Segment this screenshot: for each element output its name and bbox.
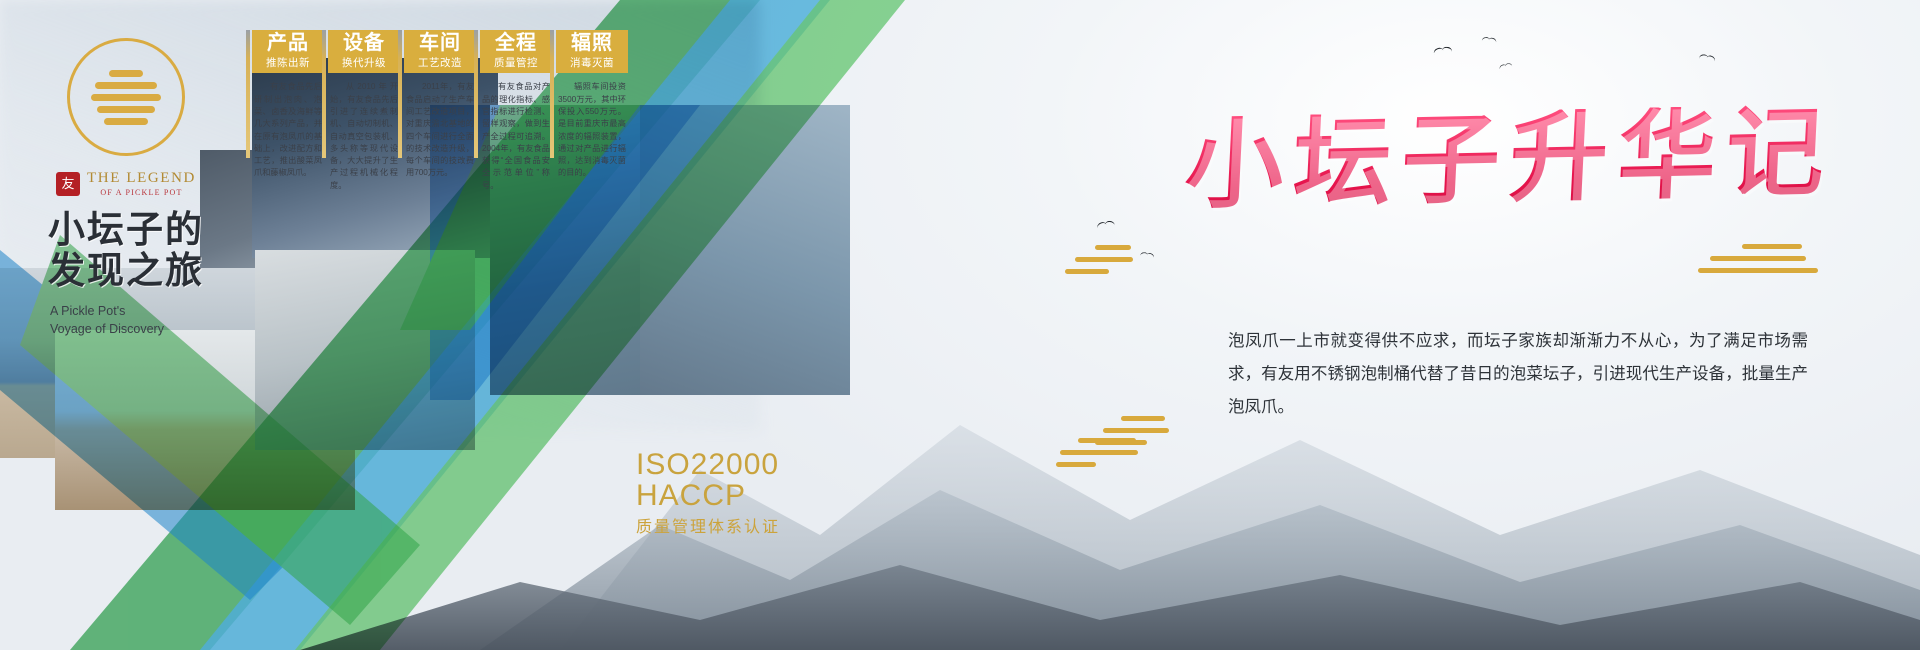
column-rule — [474, 30, 478, 158]
info-column-equipment: 设备 换代升级 从2010年开始，有友食品先后引进了连续煮制机、自动切制机、自动… — [328, 30, 400, 230]
bird-icon — [1698, 54, 1715, 66]
info-column-workshop: 车间 工艺改造 2011年，有友食品启动了生产车间工艺改造项目，对重庆渝北基地的… — [404, 30, 476, 230]
brand-english: THE LEGEND OF A PICKLE POT — [87, 170, 196, 197]
cloud-motif-icon — [1065, 245, 1133, 281]
brand-en-line1: THE LEGEND — [87, 170, 196, 187]
column-body: 辐照车间投资3500万元，其中环保投入550万元。是目前重庆市最高浓度的辐照装置… — [556, 81, 628, 179]
column-subheading: 工艺改造 — [404, 55, 476, 73]
main-headline: 小坛子升华记 — [1181, 103, 1868, 247]
brand-cn-line1: 小坛子的 — [26, 209, 226, 250]
info-column-irradiation: 辐照 消毒灭菌 辐照车间投资3500万元，其中环保投入550万元。是目前重庆市最… — [556, 30, 628, 230]
column-rule — [398, 30, 402, 158]
column-rule — [322, 30, 326, 158]
column-body: 从2010年开始，有友食品先后引进了连续煮制机、自动切制机、自动真空包装机、多头… — [328, 81, 400, 192]
pickle-pot-seal-icon — [67, 38, 185, 156]
brand-en-sub-line1: A Pickle Pot's — [50, 302, 226, 320]
bird-icon — [1140, 252, 1155, 261]
column-subheading: 质量管控 — [480, 55, 552, 73]
photo-worker — [255, 250, 475, 450]
column-heading: 全程 — [480, 30, 552, 55]
column-heading: 辐照 — [556, 30, 628, 55]
body-paragraph: 泡凤爪一上市就变得供不应求，而坛子家族却渐渐力不从心，为了满足市场需求，有友用不… — [1228, 325, 1808, 424]
brand-chinese-title: 小坛子的 发现之旅 — [26, 209, 226, 292]
column-rule — [246, 30, 250, 158]
column-subheading: 换代升级 — [328, 55, 400, 73]
column-body: 2011年，有友食品启动了生产车间工艺改造项目，对重庆渝北基地的四个车间进行全面… — [404, 81, 476, 179]
photo-factory-aerial-right — [640, 105, 850, 395]
column-rule — [550, 30, 554, 158]
column-heading: 产品 — [252, 30, 324, 55]
info-column-product: 产品 推陈出新 有友食品先后研制出泡肉、泡菜、卤香及海鲜等几大系列产品，并在原有… — [252, 30, 324, 230]
promotional-banner: 友 THE LEGEND OF A PICKLE POT 小坛子的 发现之旅 A… — [0, 0, 1920, 650]
bird-icon — [1481, 37, 1496, 47]
certification-block: ISO22000 HACCP 质量管理体系认证 — [636, 450, 780, 537]
column-body: 有友食品先后研制出泡肉、泡菜、卤香及海鲜等几大系列产品，并在原有泡凤爪的基础上，… — [252, 81, 324, 179]
bird-icon — [1096, 220, 1115, 233]
column-subheading: 推陈出新 — [252, 55, 324, 73]
brand-name-row: 友 THE LEGEND OF A PICKLE POT — [26, 170, 226, 197]
column-subheading: 消毒灭菌 — [556, 55, 628, 73]
column-body: 有友食品对产品的理化指标、感官指标进行检测、留样观察，做到生产全过程可追溯。20… — [480, 81, 552, 192]
brand-english-subtitle: A Pickle Pot's Voyage of Discovery — [26, 302, 226, 338]
column-heading: 设备 — [328, 30, 400, 55]
brand-cn-line2: 发现之旅 — [26, 250, 226, 291]
bird-icon — [1433, 46, 1453, 59]
cloud-motif-icon — [1056, 438, 1138, 474]
brand-en-sub-line2: Voyage of Discovery — [50, 320, 226, 338]
cloud-motif-icon — [1698, 244, 1818, 280]
certification-chinese: 质量管理体系认证 — [636, 513, 780, 537]
certification-haccp: HACCP — [636, 481, 780, 512]
brand-seal-icon: 友 — [56, 172, 80, 196]
info-columns: 产品 推陈出新 有友食品先后研制出泡肉、泡菜、卤香及海鲜等几大系列产品，并在原有… — [252, 30, 652, 230]
cloud-motif-icon — [1095, 416, 1169, 452]
info-column-quality: 全程 质量管控 有友食品对产品的理化指标、感官指标进行检测、留样观察，做到生产全… — [480, 30, 552, 230]
bird-icon — [1499, 62, 1513, 72]
brand-en-line2: OF A PICKLE POT — [87, 188, 196, 197]
column-heading: 车间 — [404, 30, 476, 55]
certification-iso: ISO22000 — [636, 450, 780, 481]
brand-lockup: 友 THE LEGEND OF A PICKLE POT 小坛子的 发现之旅 A… — [26, 38, 226, 338]
